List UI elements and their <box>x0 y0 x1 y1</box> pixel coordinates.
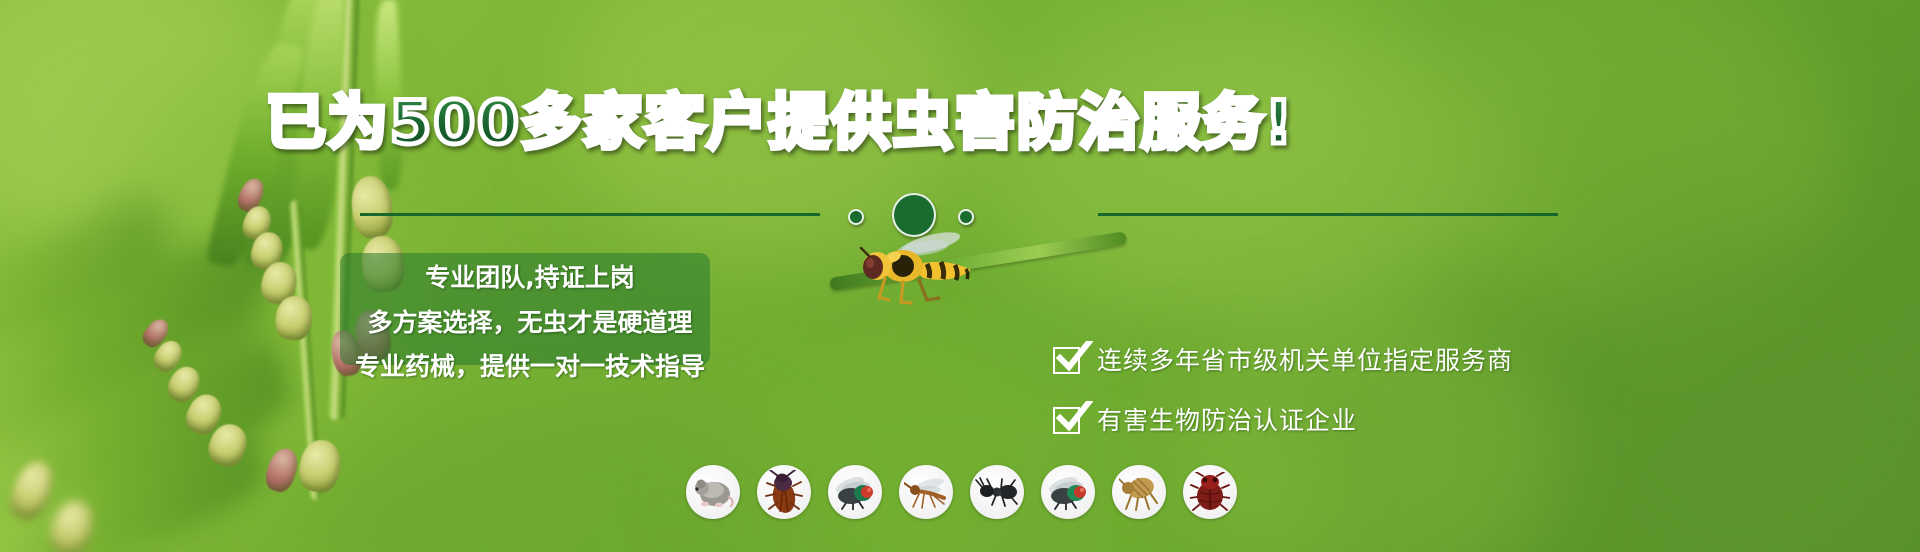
flea-icon[interactable] <box>1112 465 1166 519</box>
checkbox-checked-icon <box>1053 344 1083 374</box>
page-title: 已为500多家客户提供虫害防治服务! <box>0 74 1560 161</box>
divider-rule-left <box>360 213 820 216</box>
pest-control-banner: 已为500多家客户提供虫害防治服务! 专业团队,持证上岗 多方案选择，无虫才是硬… <box>0 0 1920 552</box>
checklist-label: 连续多年省市级机关单位指定服务商 <box>1097 341 1513 377</box>
cockroach-icon[interactable] <box>757 465 811 519</box>
ant-icon[interactable] <box>970 465 1024 519</box>
certification-checklist: 连续多年省市级机关单位指定服务商 有害生物防治认证企业 <box>1053 335 1513 455</box>
bedbug-icon[interactable] <box>1183 465 1237 519</box>
divider <box>0 203 1560 227</box>
list-item: 有害生物防治认证企业 <box>1053 395 1513 443</box>
slogan-text-block: 专业团队,持证上岗 多方案选择，无虫才是硬道理 专业药械，提供一对一技术指导 <box>330 255 730 389</box>
mouse-icon[interactable] <box>686 465 740 519</box>
greenfly-icon[interactable] <box>1041 465 1095 519</box>
mosquito-icon[interactable] <box>899 465 953 519</box>
list-item: 连续多年省市级机关单位指定服务商 <box>1053 335 1513 383</box>
slogan-line-2: 多方案选择，无虫才是硬道理 <box>330 301 730 345</box>
pest-icon-strip <box>686 465 1237 519</box>
fly-icon[interactable] <box>828 465 882 519</box>
checklist-label: 有害生物防治认证企业 <box>1097 401 1357 437</box>
slogan-line-3: 专业药械，提供一对一技术指导 <box>330 345 730 389</box>
hoverfly-scene <box>835 200 1195 320</box>
hoverfly-icon <box>849 226 989 316</box>
slogan-line-1: 专业团队,持证上岗 <box>330 255 730 301</box>
checkbox-checked-icon <box>1053 404 1083 434</box>
